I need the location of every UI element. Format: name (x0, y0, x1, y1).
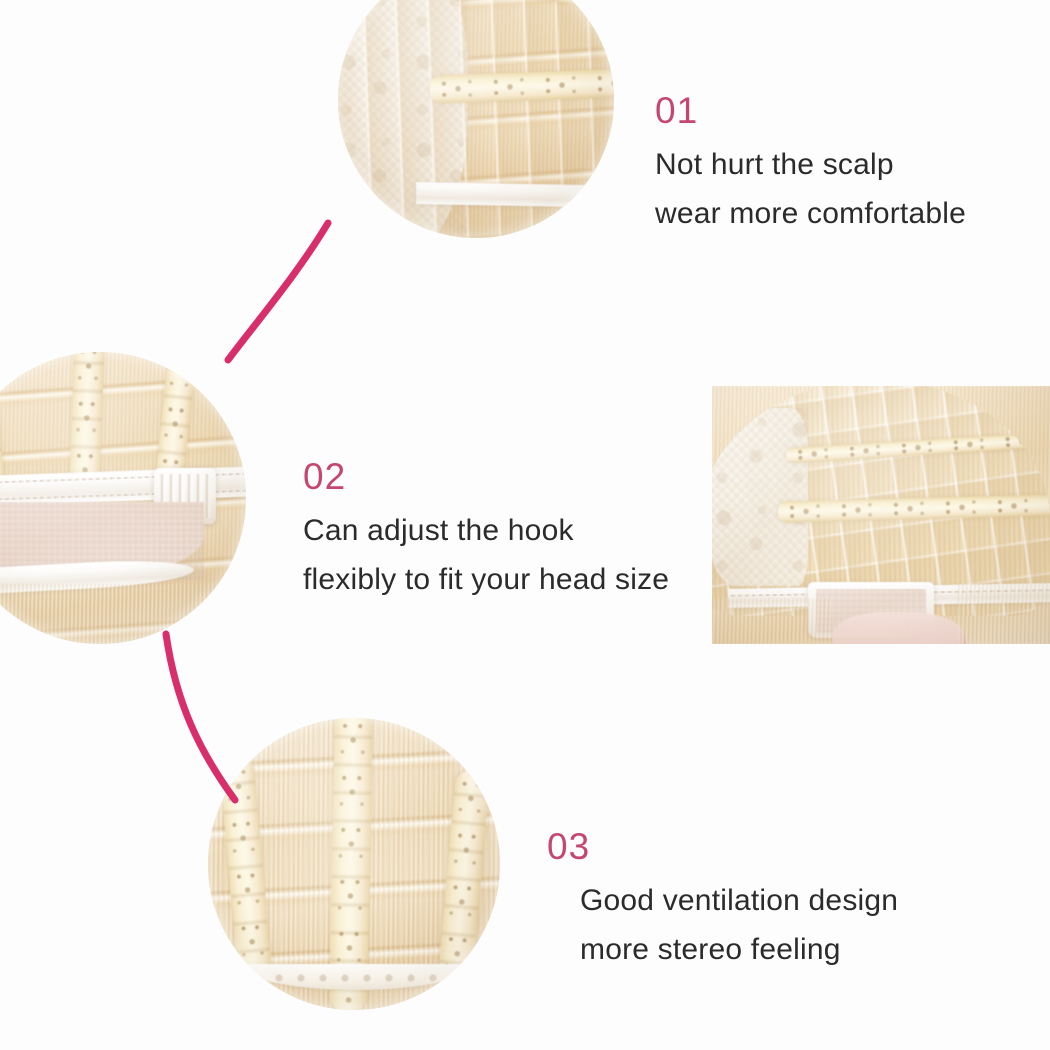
feature-text-02: Can adjust the hook flexibly to fit your… (303, 507, 669, 604)
feature-block-03: 03 Good ventilation design more stereo f… (547, 828, 898, 974)
feature-text-03: Good ventilation design more stereo feel… (580, 877, 898, 974)
hero-hair-fall-right (958, 584, 1050, 644)
hero-lace-front-patch (712, 408, 808, 586)
circle2-hair-fringe (0, 584, 246, 644)
circle1-strap-edge (416, 182, 614, 208)
feature-03-line-2: more stereo feeling (580, 926, 898, 975)
feature-01-line-2: wear more comfortable (655, 190, 966, 239)
photo-circle-03-ventilation-grid (208, 718, 500, 1010)
feature-text-01: Not hurt the scalp wear more comfortable (655, 141, 966, 238)
hero-hair-fall-left (712, 598, 832, 644)
infographic-canvas: 01 Not hurt the scalp wear more comforta… (0, 0, 1050, 1050)
feature-02-line-1: Can adjust the hook (303, 507, 669, 556)
photo-circle-02-adjustable-hook (0, 352, 246, 644)
connector-line-01-to-02 (228, 223, 328, 360)
feature-number-01: 01 (655, 92, 966, 129)
feature-number-03: 03 (547, 828, 898, 865)
feature-03-line-1: Good ventilation design (580, 877, 898, 926)
hero-photo-wig-on-mannequin (712, 386, 1050, 644)
feature-number-02: 02 (303, 458, 669, 495)
circle2-lace-strip-center (69, 352, 104, 488)
photo-circle-01-lace-front (338, 0, 614, 238)
feature-block-01: 01 Not hurt the scalp wear more comforta… (655, 92, 966, 238)
feature-02-line-2: flexibly to fit your head size (303, 556, 669, 605)
feature-block-02: 02 Can adjust the hook flexibly to fit y… (303, 458, 669, 604)
hero-mannequin-neck (832, 612, 964, 644)
circle3-bottom-lace-dots (248, 970, 464, 986)
feature-01-line-1: Not hurt the scalp (655, 141, 966, 190)
